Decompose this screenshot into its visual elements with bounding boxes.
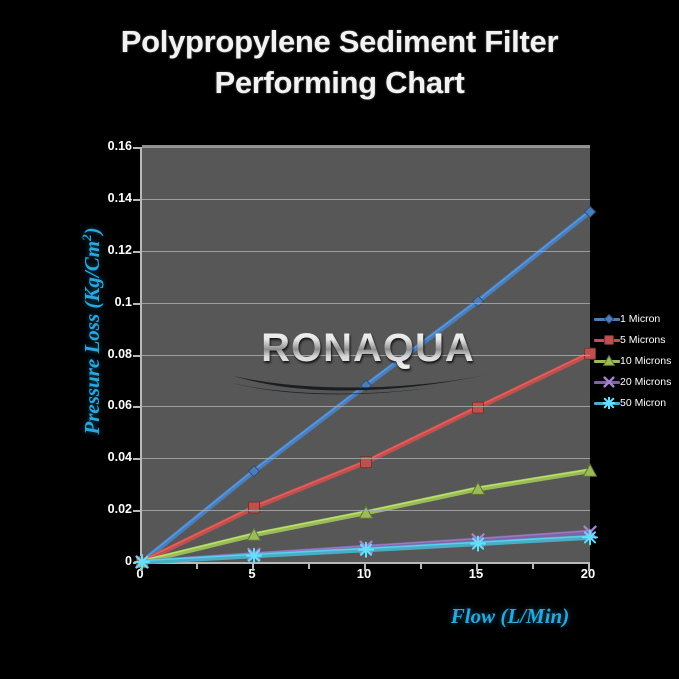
y-axis-tick-mark bbox=[133, 303, 140, 305]
legend-item-50-micron[interactable]: 50 Micron bbox=[594, 392, 679, 413]
legend-swatch bbox=[594, 312, 620, 326]
data-point-square-icon bbox=[249, 502, 260, 513]
x-axis-tick-mark bbox=[364, 564, 366, 571]
title-line-2: Performing Chart bbox=[0, 63, 679, 104]
legend-label: 50 Micron bbox=[620, 397, 666, 409]
gridline bbox=[142, 303, 590, 304]
y-axis-tick-label: 0 bbox=[70, 554, 132, 568]
legend-swatch bbox=[594, 375, 620, 389]
data-point-cross-icon bbox=[605, 377, 614, 386]
gridline bbox=[142, 251, 590, 252]
title-line-1: Polypropylene Sediment Filter bbox=[0, 22, 679, 63]
legend-label: 1 Micron bbox=[620, 313, 660, 325]
gridline bbox=[142, 147, 590, 148]
legend-marker-diamond-icon bbox=[603, 313, 615, 325]
data-point-square-icon bbox=[473, 402, 484, 413]
y-axis-tick-mark bbox=[133, 251, 140, 253]
y-axis-tick-mark bbox=[133, 147, 140, 149]
y-axis-tick-mark bbox=[133, 355, 140, 357]
x-axis-title: Flow (L/Min) bbox=[380, 604, 640, 629]
data-point-star-icon bbox=[359, 543, 373, 557]
legend-label: 10 Microns bbox=[620, 355, 671, 367]
x-axis-minor-tick bbox=[308, 564, 310, 569]
legend-marker-square-icon bbox=[603, 334, 615, 346]
gridline bbox=[142, 510, 590, 511]
legend-item-1-micron[interactable]: 1 Micron bbox=[594, 308, 679, 329]
plot-area bbox=[140, 147, 590, 564]
x-axis-tick-mark bbox=[476, 564, 478, 571]
y-axis-tick-label: 0.16 bbox=[70, 139, 132, 153]
data-point-diamond-icon bbox=[605, 314, 614, 323]
legend: 1 Micron5 Microns10 Microns20 Microns50 … bbox=[594, 308, 679, 413]
x-axis-tick-label: 0 bbox=[120, 566, 160, 581]
chart-screenshot: Polypropylene Sediment Filter Performing… bbox=[0, 0, 679, 679]
legend-item-20-microns[interactable]: 20 Microns bbox=[594, 371, 679, 392]
x-axis-tick-label: 10 bbox=[344, 566, 384, 581]
x-axis-minor-tick bbox=[532, 564, 534, 569]
x-axis-tick-mark bbox=[588, 564, 590, 571]
data-point-square-icon bbox=[605, 335, 614, 344]
data-point-star-icon bbox=[603, 397, 615, 409]
gridline bbox=[142, 406, 590, 407]
data-point-triangle-icon bbox=[604, 355, 615, 365]
x-axis-tick-label: 15 bbox=[456, 566, 496, 581]
data-point-star-icon bbox=[583, 530, 597, 544]
legend-marker-triangle-icon bbox=[603, 355, 615, 367]
data-point-star-icon bbox=[135, 555, 149, 569]
legend-marker-cross-icon bbox=[603, 376, 615, 388]
legend-item-5-microns[interactable]: 5 Microns bbox=[594, 329, 679, 350]
gridline bbox=[142, 458, 590, 459]
legend-label: 20 Microns bbox=[620, 376, 671, 388]
x-axis-minor-tick bbox=[420, 564, 422, 569]
y-axis-tick-mark bbox=[133, 199, 140, 201]
x-axis-tick-mark bbox=[252, 564, 254, 571]
gridline bbox=[142, 199, 590, 200]
y-axis-tick-mark bbox=[133, 510, 140, 512]
legend-swatch bbox=[594, 333, 620, 347]
y-axis-title: Pressure Loss (Kg/Cm2) bbox=[79, 181, 105, 481]
data-point-star-icon bbox=[471, 537, 485, 551]
gridline bbox=[142, 355, 590, 356]
page-title: Polypropylene Sediment Filter Performing… bbox=[0, 22, 679, 104]
legend-swatch bbox=[594, 354, 620, 368]
legend-marker-star-icon bbox=[603, 397, 615, 409]
x-axis-tick-label: 20 bbox=[568, 566, 608, 581]
y-axis-tick-label: 0.02 bbox=[70, 502, 132, 516]
x-axis-minor-tick bbox=[196, 564, 198, 569]
x-axis-tick-label: 5 bbox=[232, 566, 272, 581]
legend-swatch bbox=[594, 396, 620, 410]
y-axis-tick-mark bbox=[133, 406, 140, 408]
legend-item-10-microns[interactable]: 10 Microns bbox=[594, 350, 679, 371]
legend-label: 5 Microns bbox=[620, 334, 666, 346]
y-axis-tick-mark bbox=[133, 458, 140, 460]
data-point-star-icon bbox=[247, 549, 261, 563]
